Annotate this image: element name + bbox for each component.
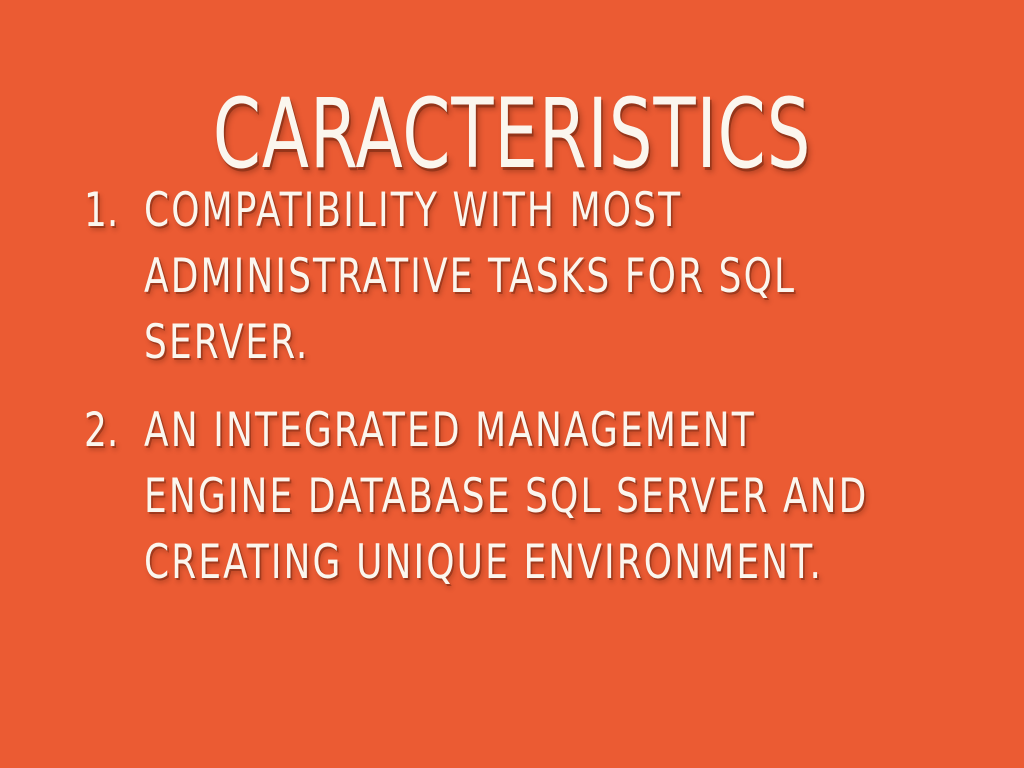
- list-item-marker: 1.: [84, 178, 135, 244]
- page-title: CARACTERISTICS: [102, 82, 921, 186]
- list-item: 1. COMPATIBILITY WITH MOST ADMINISTRATIV…: [84, 178, 1014, 376]
- list-item-text: AN INTEGRATED MANAGEMENT ENGINE DATABASE…: [144, 398, 884, 596]
- numbered-list: 1. COMPATIBILITY WITH MOST ADMINISTRATIV…: [44, 178, 1014, 618]
- presentation-slide: CARACTERISTICS 1. COMPATIBILITY WITH MOS…: [0, 0, 1024, 768]
- list-item: 2. AN INTEGRATED MANAGEMENT ENGINE DATAB…: [84, 398, 1014, 596]
- list-item-text: COMPATIBILITY WITH MOST ADMINISTRATIVE T…: [144, 178, 884, 376]
- list-item-marker: 2.: [84, 398, 135, 464]
